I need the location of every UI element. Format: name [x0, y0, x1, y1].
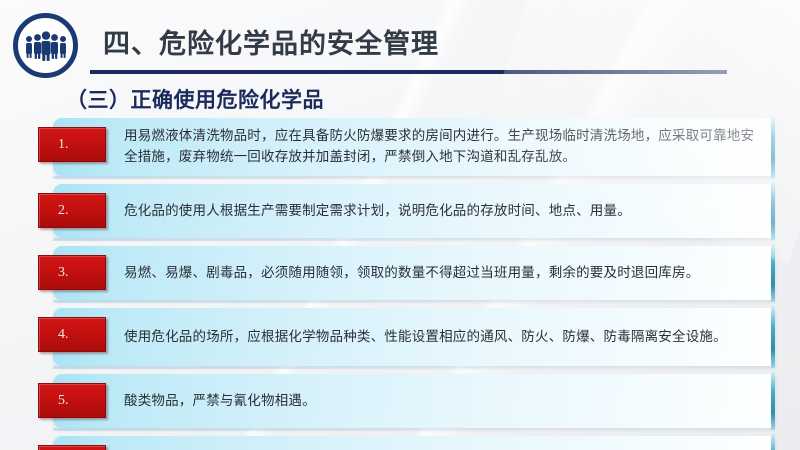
list-item: 5. 酸类物品，严禁与氰化物相遇。 [0, 374, 800, 428]
item-text-value: 危化品的使用人根据生产需要制定需求计划，说明危化品的存放时间、地点、用量。 [124, 201, 631, 222]
item-number-badge: 4. [38, 317, 106, 352]
item-text: 酸类物品，严禁与氰化物相遇。 [124, 374, 764, 428]
item-text-value: 用易燃液体清洗物品时，应在具备防火防爆要求的房间内进行。生产现场临时清洗场地，应… [124, 126, 764, 168]
item-text: 操作者工作前必须穿戴好专用的防护用品。 [124, 436, 764, 450]
group-of-people-icon [13, 13, 78, 78]
list-item: 6. 操作者工作前必须穿戴好专用的防护用品。 [0, 436, 800, 450]
list-item: 4. 使用危化品的场所，应根据化学物品种类、性能设置相应的通风、防火、防爆、防毒… [0, 308, 800, 366]
numbered-item-list: 1. 用易燃液体清洗物品时，应在具备防火防爆要求的房间内进行。生产现场临时清洗场… [0, 118, 800, 450]
item-text-value: 使用危化品的场所，应根据化学物品种类、性能设置相应的通风、防火、防爆、防毒隔离安… [124, 327, 727, 348]
item-text-value: 酸类物品，严禁与氰化物相遇。 [124, 391, 316, 412]
page-subtitle: （三）正确使用危险化学品 [66, 84, 324, 114]
page-title: 四、危险化学品的安全管理 [103, 22, 439, 61]
list-item: 2. 危化品的使用人根据生产需要制定需求计划，说明危化品的存放时间、地点、用量。 [0, 184, 800, 238]
item-number-badge: 1. [38, 127, 106, 162]
item-number-badge: 6. [38, 445, 106, 450]
list-item: 1. 用易燃液体清洗物品时，应在具备防火防爆要求的房间内进行。生产现场临时清洗场… [0, 118, 800, 176]
item-number-badge: 2. [38, 193, 106, 228]
item-number-badge: 5. [38, 383, 106, 418]
item-text: 用易燃液体清洗物品时，应在具备防火防爆要求的房间内进行。生产现场临时清洗场地，应… [124, 118, 764, 176]
item-text-value: 易燃、易爆、剧毒品，必须随用随领，领取的数量不得超过当班用量，剩余的要及时退回库… [124, 263, 699, 284]
item-text: 易燃、易爆、剧毒品，必须随用随领，领取的数量不得超过当班用量，剩余的要及时退回库… [124, 246, 764, 300]
slide: 四、危险化学品的安全管理 （三）正确使用危险化学品 1. 用易燃液体清洗物品时，… [0, 0, 800, 450]
item-text: 使用危化品的场所，应根据化学物品种类、性能设置相应的通风、防火、防爆、防毒隔离安… [124, 308, 764, 366]
list-item: 3. 易燃、易爆、剧毒品，必须随用随领，领取的数量不得超过当班用量，剩余的要及时… [0, 246, 800, 300]
item-number-badge: 3. [38, 255, 106, 290]
item-text: 危化品的使用人根据生产需要制定需求计划，说明危化品的存放时间、地点、用量。 [124, 184, 764, 238]
title-divider [90, 70, 727, 74]
